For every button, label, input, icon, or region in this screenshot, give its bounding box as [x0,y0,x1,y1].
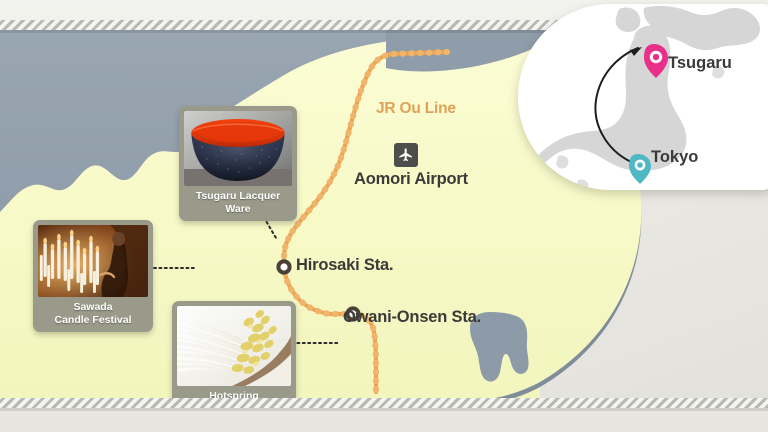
inset-label-tsugaru: Tsugaru [668,54,732,73]
photo-card-sawada-candle-festival[interactable]: Sawada Candle Festival [33,220,153,332]
photo-card-hotspring-bean-sprouts[interactable]: Hotspring bean sprouts [172,301,296,398]
inset-locator-map[interactable] [518,4,768,190]
frame-band-bottom-shadow [0,408,768,411]
frame-band-bottom [0,398,768,408]
aomori-airport-label: Aomori Airport [354,170,468,189]
caption-line: Sawada [40,301,146,314]
photo-card-caption: Tsugaru Lacquer Ware [184,186,292,221]
photo-card-caption: Sawada Candle Festival [38,297,148,332]
screenshot-stage: JR Ou Line Aomori Airport Hirosaki Sta. … [0,0,768,432]
caption-line: Candle Festival [40,314,146,327]
airplane-icon [394,143,418,167]
photo-card-tsugaru-lacquer-ware[interactable]: Tsugaru Lacquer Ware [179,106,297,221]
photo-card-caption: Hotspring bean sprouts [177,386,291,398]
inset-label-tokyo: Tokyo [651,148,698,167]
owani-onsen-station-label: Owani-Onsen Sta. [343,308,481,327]
photo-candle-festival [38,225,148,297]
station-marker-hirosaki [276,259,291,274]
caption-line: Tsugaru Lacquer Ware [186,190,290,215]
hirosaki-station-label: Hirosaki Sta. [296,256,393,275]
inset-map-graphic [518,4,768,190]
caption-line: Hotspring [179,390,289,398]
jr-ou-line-label: JR Ou Line [376,100,456,118]
photo-bean-sprouts [177,306,291,386]
photo-lacquer-bowl [184,111,292,186]
